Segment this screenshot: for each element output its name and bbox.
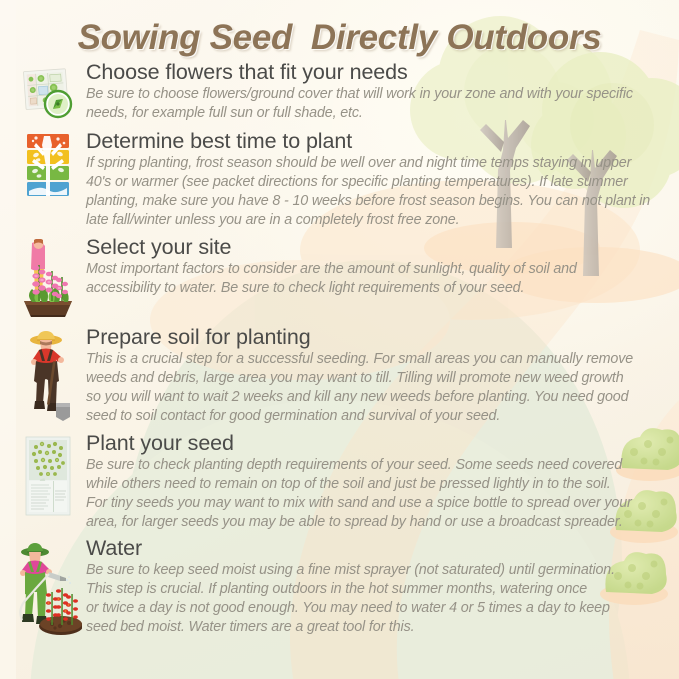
step-text: Select your site Most important factors …	[84, 235, 665, 298]
garden-plan-map-icon	[12, 60, 84, 122]
gardener-with-shovel-icon	[12, 325, 84, 421]
steps-list: Choose flowers that fit your needs Be su…	[0, 60, 679, 638]
step-heading: Water	[86, 536, 663, 560]
step-text: Water Be sure to keep seed moist using a…	[84, 536, 665, 637]
step-water: Water Be sure to keep seed moist using a…	[0, 536, 679, 638]
step-body: Be sure to keep seed moist using a fine …	[86, 561, 663, 637]
step-heading: Prepare soil for planting	[86, 325, 663, 349]
gardener-watering-icon	[12, 536, 84, 638]
step-body: If spring planting, frost season should …	[86, 154, 663, 230]
seed-packet-icon	[12, 431, 84, 517]
step-text: Determine best time to plant If spring p…	[84, 129, 665, 230]
step-body: Be sure to check planting depth requirem…	[86, 456, 663, 532]
poster-content: Sowing Seed Directly Outdoors	[0, 0, 679, 679]
step-heading: Plant your seed	[86, 431, 663, 455]
infographic-poster: Sowing Seed Directly Outdoors	[0, 0, 679, 679]
step-text: Prepare soil for planting This is a cruc…	[84, 325, 665, 426]
step-select-site: Select your site Most important factors …	[0, 235, 679, 319]
step-text: Choose flowers that fit your needs Be su…	[84, 60, 665, 123]
flower-planter-icon	[12, 235, 84, 319]
step-body: Most important factors to consider are t…	[86, 260, 663, 298]
four-seasons-icon	[12, 129, 84, 199]
step-body: Be sure to choose flowers/ground cover t…	[86, 85, 663, 123]
page-title: Sowing Seed Directly Outdoors	[0, 18, 679, 58]
step-heading: Select your site	[86, 235, 663, 259]
step-plant-seed: Plant your seed Be sure to check plantin…	[0, 431, 679, 532]
step-heading: Choose flowers that fit your needs	[86, 60, 663, 84]
step-choose-flowers: Choose flowers that fit your needs Be su…	[0, 60, 679, 123]
step-text: Plant your seed Be sure to check plantin…	[84, 431, 665, 532]
step-body: This is a crucial step for a successful …	[86, 350, 663, 426]
step-determine-time: Determine best time to plant If spring p…	[0, 129, 679, 230]
step-prepare-soil: Prepare soil for planting This is a cruc…	[0, 325, 679, 426]
step-heading: Determine best time to plant	[86, 129, 663, 153]
